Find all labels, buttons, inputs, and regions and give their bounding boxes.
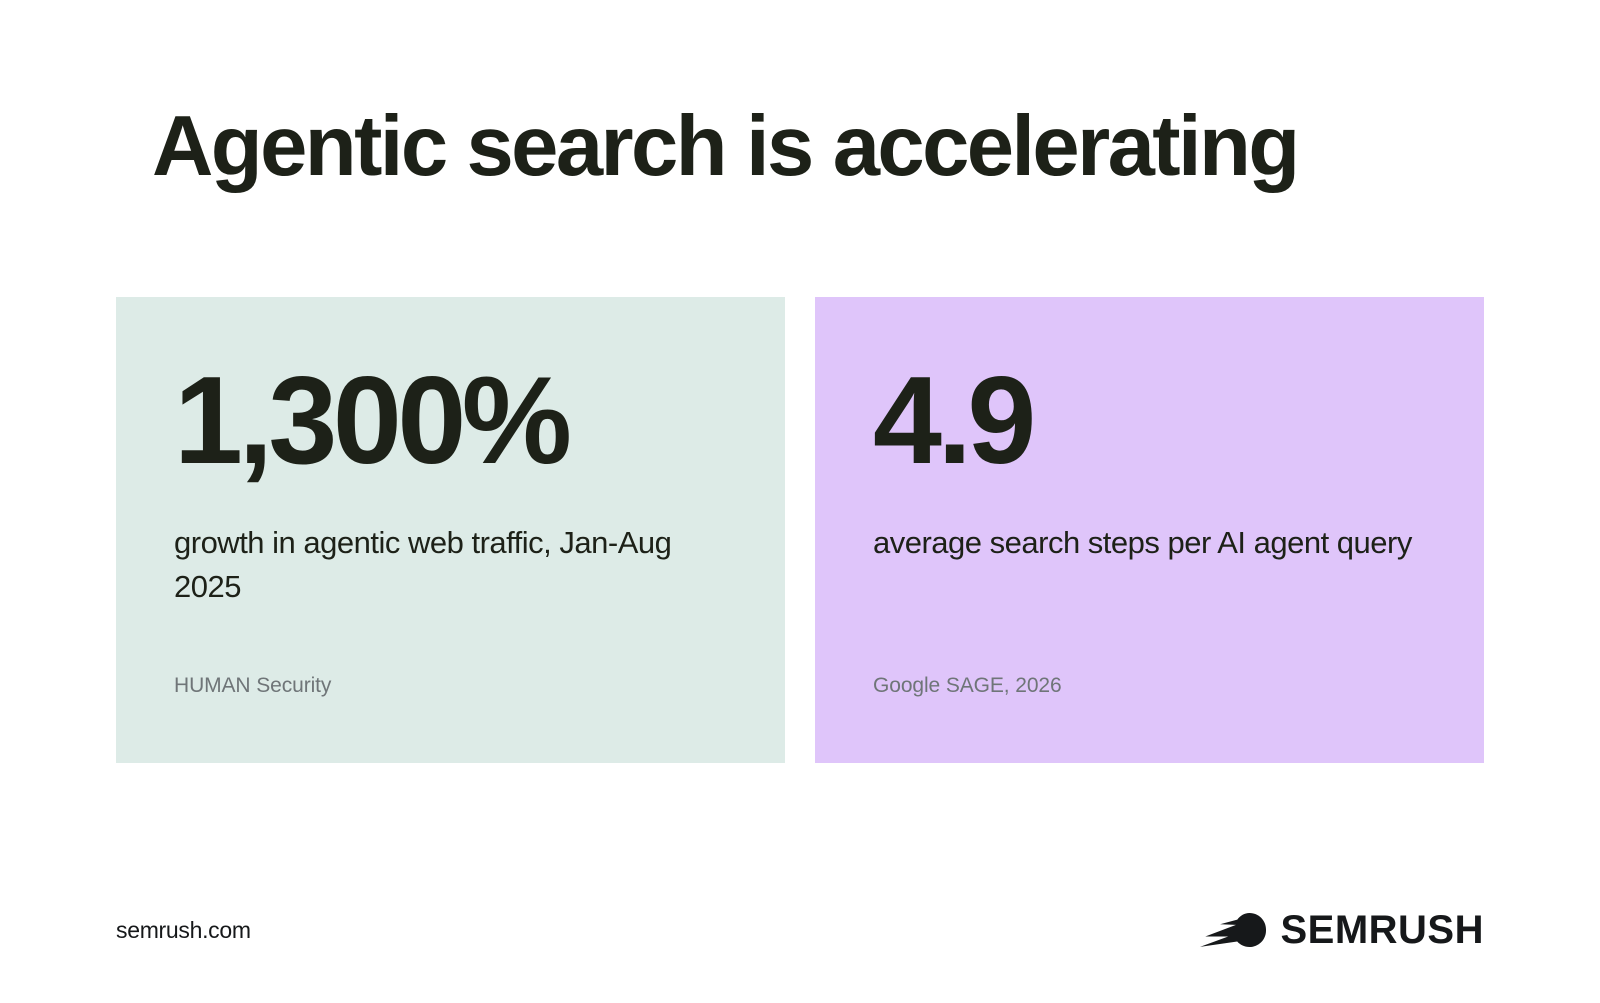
semrush-comet-icon bbox=[1200, 913, 1266, 947]
stat-card-group: 1,300% growth in agentic web traffic, Ja… bbox=[116, 297, 1484, 763]
footer-website-url[interactable]: semrush.com bbox=[116, 917, 251, 944]
stat-description: growth in agentic web traffic, Jan-Aug 2… bbox=[174, 521, 727, 609]
stat-description: average search steps per AI agent query bbox=[873, 521, 1426, 565]
stat-value: 1,300% bbox=[174, 359, 727, 483]
stat-value: 4.9 bbox=[873, 359, 1426, 483]
semrush-logo[interactable]: SEMRUSH bbox=[1200, 910, 1484, 950]
stat-card-growth: 1,300% growth in agentic web traffic, Ja… bbox=[116, 297, 785, 763]
footer: semrush.com SEMRUSH bbox=[116, 905, 1484, 955]
stat-source: Google SAGE, 2026 bbox=[873, 672, 1062, 699]
stat-source: HUMAN Security bbox=[174, 672, 331, 699]
stat-card-search-steps: 4.9 average search steps per AI agent qu… bbox=[815, 297, 1484, 763]
page-title: Agentic search is accelerating bbox=[152, 104, 1452, 189]
infographic-canvas: Agentic search is accelerating 1,300% gr… bbox=[0, 0, 1600, 1003]
semrush-wordmark: SEMRUSH bbox=[1280, 910, 1484, 950]
